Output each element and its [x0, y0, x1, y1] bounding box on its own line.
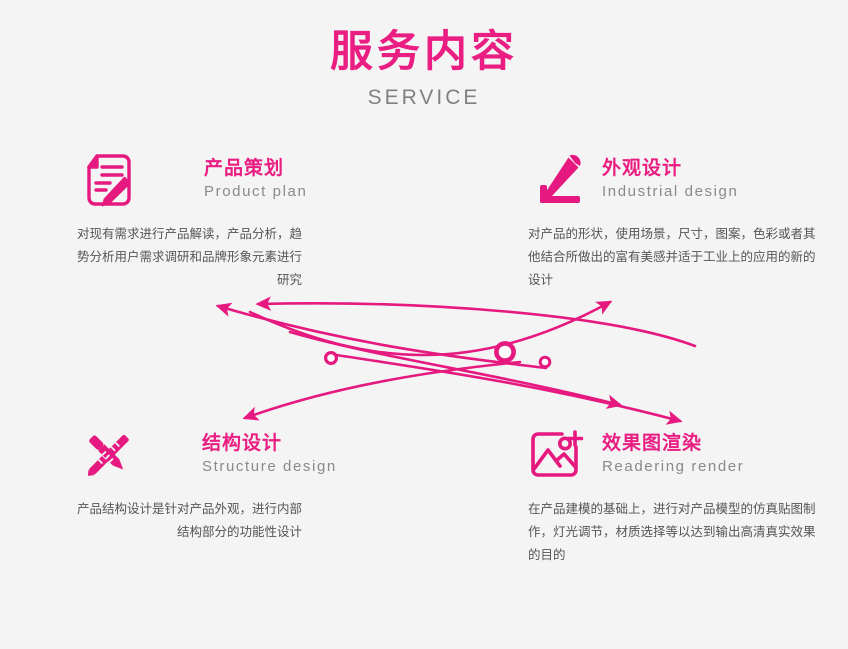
image-plus-icon: [528, 425, 588, 485]
page-header: 服务内容 SERVICE: [0, 26, 848, 110]
document-pencil-icon: [78, 150, 138, 210]
service-header-row: 外观设计 Industrial design: [528, 150, 818, 210]
service-card-structure-design[interactable]: 结构设计 Structure design 产品结构设计是针对产品外观，进行内部…: [72, 425, 302, 544]
arrow-curve-upper-left: [218, 306, 546, 368]
service-heading-cn: 结构设计: [202, 432, 282, 456]
service-description: 对产品的形状，使用场景，尺寸，图案，色彩或者其他结合所做出的富有美感并适于工业上…: [528, 223, 818, 292]
service-header-row: 结构设计 Structure design: [72, 425, 302, 485]
pencil-drawing-icon: [528, 150, 588, 210]
service-heading-en: Product plan: [204, 181, 307, 203]
service-title-group: 外观设计 Industrial design: [602, 157, 738, 203]
page-title-en: SERVICE: [0, 86, 848, 110]
service-card-product-plan[interactable]: 产品策划 Product plan 对现有需求进行产品解读，产品分析，趋势分析用…: [72, 150, 302, 292]
service-card-industrial-design[interactable]: 外观设计 Industrial design 对产品的形状，使用场景，尺寸，图案…: [528, 150, 818, 292]
arrow-curve-upper-right: [250, 302, 610, 355]
service-title-group: 结构设计 Structure design: [202, 432, 337, 478]
service-header-row: 效果图渲染 Readering render: [528, 425, 818, 485]
service-title-group: 产品策划 Product plan: [204, 157, 307, 203]
crossing-arrows-graphic: [190, 288, 700, 433]
node-small-right: [540, 357, 550, 367]
crossed-ruler-pencil-icon: [78, 425, 138, 485]
service-heading-en: Industrial design: [602, 181, 738, 203]
service-description: 产品结构设计是针对产品外观，进行内部结构部分的功能性设计: [72, 498, 302, 544]
node-large-center: [496, 343, 513, 360]
arrow-curve-lower-right-long: [330, 354, 680, 421]
arrow-curve-lower-left: [245, 362, 520, 418]
service-title-group: 效果图渲染 Readering render: [602, 432, 744, 478]
service-description: 对现有需求进行产品解读，产品分析，趋势分析用户需求调研和品牌形象元素进行研究: [72, 223, 302, 292]
arrow-curve-lower-right-short: [290, 332, 620, 405]
service-heading-en: Readering render: [602, 456, 744, 478]
service-card-rendering[interactable]: 效果图渲染 Readering render 在产品建模的基础上，进行对产品模型…: [528, 425, 818, 567]
service-heading-cn: 产品策划: [204, 157, 284, 181]
service-section-page: 服务内容 SERVICE: [0, 0, 848, 649]
service-description: 在产品建模的基础上，进行对产品模型的仿真贴图制作，灯光调节，材质选择等以达到输出…: [528, 498, 818, 567]
service-heading-en: Structure design: [202, 456, 337, 478]
service-heading-cn: 外观设计: [602, 157, 738, 181]
service-heading-cn: 效果图渲染: [602, 432, 744, 456]
page-title-cn: 服务内容: [0, 26, 848, 78]
arrow-curve-to-left: [258, 303, 695, 346]
node-small-left: [326, 353, 337, 364]
service-header-row: 产品策划 Product plan: [72, 150, 302, 210]
